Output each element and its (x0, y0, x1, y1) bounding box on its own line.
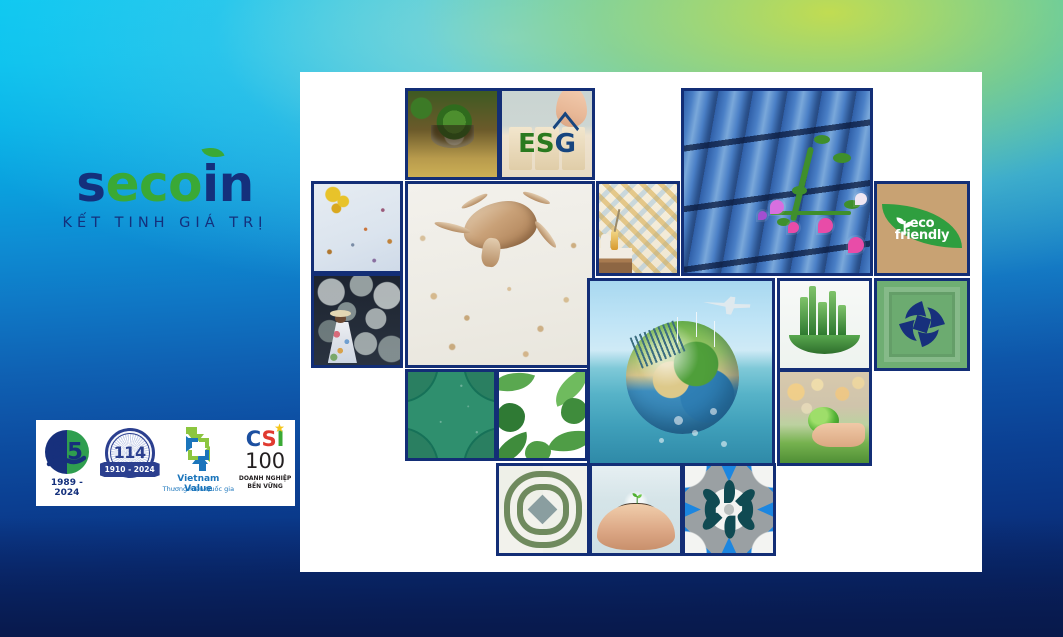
eco-friendly-badge-graphic: eco friendly (877, 184, 967, 273)
award-badges-strip: 35 1989 - 2024 114 1910 - 2024 (36, 420, 295, 506)
tile-center-dot (724, 504, 735, 514)
patterned-wall-interior-photo (599, 184, 677, 273)
terrarium-plant-photo (408, 91, 497, 177)
logo-part-eco: eco (106, 155, 202, 213)
tile-green-encaustic-tile[interactable] (496, 463, 590, 556)
esg-label: ESG (502, 131, 592, 157)
tile-blue-floral-cement-tile[interactable] (682, 463, 776, 556)
seal-years: 1910 - 2024 (105, 465, 155, 474)
hands-holding-seedling-photo (592, 466, 680, 553)
hands-shape (597, 504, 674, 549)
badge-csi-100: CSI ★ 100 DOANH NGHIỆP BỀN VỮNG (236, 425, 294, 501)
anniversary-35-icon: 35 (42, 427, 92, 477)
girl-figure (328, 310, 357, 363)
seedling-icon (631, 489, 643, 505)
csi-subtitle-line-2: BỀN VỮNG (236, 483, 294, 490)
roof-seam-lines (684, 91, 870, 273)
tile-conch-shell-sand-photo[interactable] (405, 181, 595, 368)
hand-shape (812, 423, 865, 447)
earth-globe-water-photo (590, 281, 772, 463)
seal-ribbon: 1910 - 2024 (100, 462, 160, 477)
secoin-logo: secoin KẾT TINH GIÁ TRỊ (0, 155, 330, 235)
conch-shell-sand-photo (408, 184, 592, 365)
tile-green-eco-city-illustration[interactable] (777, 278, 872, 371)
logo-part-s: s (76, 155, 105, 213)
tile-girl-hexagon-tiles-photo[interactable] (311, 273, 403, 368)
tile-green-terrazzo-petal-tile[interactable] (405, 369, 497, 461)
esg-letter-e: E (518, 129, 536, 159)
tile-eco-friendly-badge-graphic[interactable]: eco friendly (874, 181, 970, 276)
tile-green-pinwheel-tile-graphic[interactable] (874, 278, 970, 371)
green-pinwheel-tile-graphic (877, 281, 967, 368)
logo-part-in: in (202, 155, 254, 213)
eco-friendly-label: eco friendly (877, 218, 967, 242)
tile-terrazzo-yellow-flower-photo[interactable] (311, 181, 403, 274)
badge-35-years: 1989 - 2024 (37, 478, 97, 498)
tile-blue-roof-tiles-photo[interactable] (681, 88, 873, 276)
badge-vietnam-value: Vietnam Value Thương hiệu Quốc gia (162, 425, 234, 501)
tile-patterned-wall-interior-photo[interactable] (596, 181, 680, 276)
tile-hand-holding-green-globe-photo[interactable] (777, 369, 872, 466)
csi-number: 100 (236, 451, 294, 472)
tile-terrarium-plant-photo[interactable] (405, 88, 500, 180)
csi-subtitle-line-1: DOANH NGHIỆP (236, 475, 294, 482)
green-base (789, 335, 860, 354)
secoin-logo-text: secoin (76, 159, 253, 209)
esg-letter-g: G (555, 129, 576, 159)
badge-anniversary-35: 35 1989 - 2024 (37, 425, 97, 501)
blue-floral-cement-tile (685, 466, 773, 553)
girl-hexagon-tiles-photo (314, 276, 400, 365)
csi-letters: CSI (236, 429, 294, 450)
csi-letter-c: C (246, 427, 262, 451)
badge-seal-114: 114 1910 - 2024 (99, 425, 161, 501)
tile-tropical-leaves-photo[interactable] (496, 369, 588, 461)
blue-roof-tiles-photo (684, 91, 870, 273)
airplane-icon (702, 292, 751, 317)
tile-earth-globe-water-photo[interactable] (587, 278, 775, 466)
green-encaustic-tile (499, 466, 587, 553)
pinwheel-icon (895, 298, 949, 350)
image-collage: ESG (300, 72, 982, 572)
eco-label-line-2: friendly (877, 230, 967, 242)
tile-esg-wooden-blocks-photo[interactable]: ESG (499, 88, 595, 180)
hand-holding-green-globe-photo (780, 372, 869, 463)
esg-wooden-blocks-photo: ESG (502, 91, 592, 177)
vietnam-value-icon (173, 426, 223, 472)
tropical-leaves-photo (499, 372, 585, 458)
green-eco-city-illustration (780, 281, 869, 368)
brand-tagline: KẾT TINH GIÁ TRỊ (63, 215, 268, 231)
brand-panel: secoin KẾT TINH GIÁ TRỊ 35 1989 - 2024 (0, 155, 330, 280)
tile-hands-holding-seedling-photo[interactable] (589, 463, 683, 556)
esg-letter-s: S (536, 129, 555, 159)
terrazzo-yellow-flower-photo (314, 184, 400, 271)
vietnam-value-subtitle: Thương hiệu Quốc gia (162, 485, 234, 493)
star-icon: ★ (274, 423, 285, 434)
green-terrazzo-petal-tile (408, 372, 494, 458)
seal-number: 114 (105, 443, 155, 462)
collage-card: ESG (300, 72, 982, 572)
